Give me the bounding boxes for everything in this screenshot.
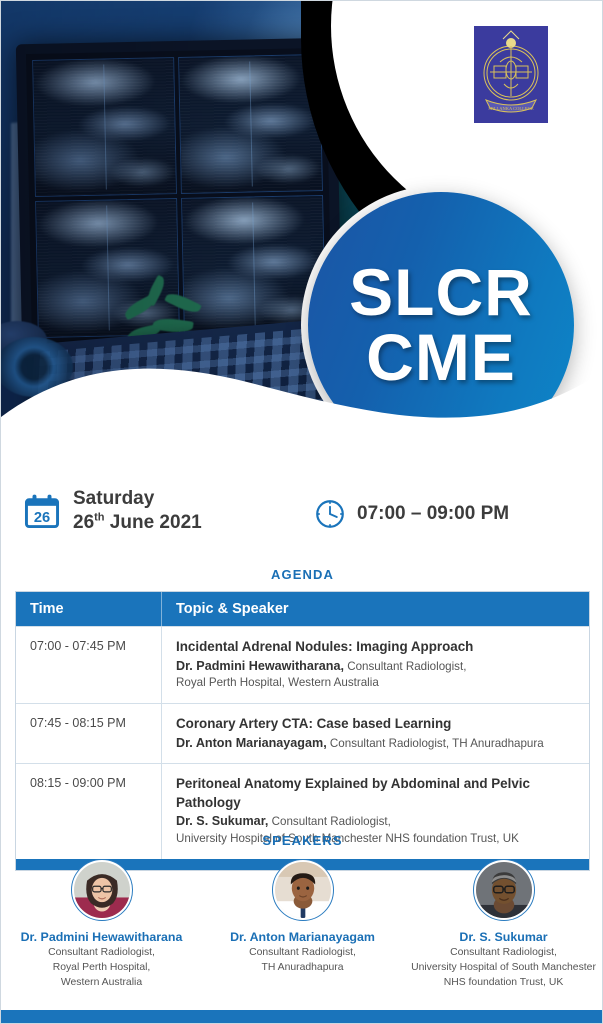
speaker-affiliation: Consultant Radiologist, Royal Perth Hosp… bbox=[48, 946, 155, 990]
speakers-section-label: SPEAKERS bbox=[1, 833, 603, 848]
column-header-time: Time bbox=[16, 592, 162, 626]
speaker-card: Dr. Padmini Hewawitharana Consultant Rad… bbox=[1, 859, 202, 990]
hero-banner: SLCR CME bbox=[1, 1, 603, 471]
event-meta-row: 26 Saturday 26th June 2021 07:00 – 09:00… bbox=[1, 483, 603, 553]
svg-text:SRI LANKA COLLEGE: SRI LANKA COLLEGE bbox=[488, 106, 533, 111]
avatar bbox=[272, 859, 334, 921]
brand-line-slcr: SLCR bbox=[349, 260, 533, 325]
speaker-photo bbox=[74, 862, 130, 918]
college-crest-icon: SRI LANKA COLLEGE bbox=[474, 26, 548, 123]
row-topic: Incidental Adrenal Nodules: Imaging Appr… bbox=[162, 627, 589, 703]
row-topic-affiliation: Royal Perth Hospital, Western Australia bbox=[176, 675, 579, 692]
row-topic-role: Consultant Radiologist, TH Anuradhapura bbox=[327, 737, 544, 750]
event-date-day: 26 bbox=[73, 512, 94, 533]
row-topic-title: Incidental Adrenal Nodules: Imaging Appr… bbox=[176, 638, 579, 657]
row-topic-speaker: Dr. S. Sukumar, Consultant Radiologist, bbox=[176, 812, 579, 831]
agenda-section-label: AGENDA bbox=[1, 567, 603, 582]
agenda-table: Time Topic & Speaker 07:00 - 07:45 PM In… bbox=[15, 591, 590, 871]
row-time: 07:45 - 08:15 PM bbox=[16, 704, 162, 763]
white-wave-divider bbox=[1, 321, 603, 471]
event-date: 26 Saturday 26th June 2021 bbox=[23, 487, 202, 535]
row-topic-role: Consultant Radiologist, bbox=[268, 815, 390, 828]
event-time-text: 07:00 – 09:00 PM bbox=[357, 503, 509, 525]
row-topic-title: Coronary Artery CTA: Case based Learning bbox=[176, 715, 579, 734]
speaker-portrait-icon bbox=[275, 862, 331, 918]
speaker-affiliation: Consultant Radiologist, TH Anuradhapura bbox=[249, 946, 356, 976]
speaker-photo bbox=[476, 862, 532, 918]
event-date-ordinal: th bbox=[94, 512, 104, 524]
row-topic-role: Consultant Radiologist, bbox=[344, 660, 466, 673]
event-date-rest: June 2021 bbox=[105, 512, 202, 533]
clock-icon bbox=[313, 497, 347, 531]
table-row: 07:45 - 08:15 PM Coronary Artery CTA: Ca… bbox=[16, 703, 589, 763]
speaker-affiliation: Consultant Radiologist, University Hospi… bbox=[411, 946, 596, 990]
event-time: 07:00 – 09:00 PM bbox=[313, 497, 509, 531]
table-row: 07:00 - 07:45 PM Incidental Adrenal Nodu… bbox=[16, 626, 589, 703]
speaker-card: Dr. Anton Marianayagam Consultant Radiol… bbox=[202, 859, 403, 990]
row-topic-title: Peritoneal Anatomy Explained by Abdomina… bbox=[176, 775, 579, 812]
column-header-topic: Topic & Speaker bbox=[162, 592, 589, 626]
event-date-text: Saturday 26th June 2021 bbox=[73, 487, 202, 535]
avatar bbox=[473, 859, 535, 921]
row-time: 07:00 - 07:45 PM bbox=[16, 627, 162, 703]
speaker-name: Dr. Anton Marianayagam bbox=[230, 930, 375, 944]
calendar-day-number: 26 bbox=[34, 510, 50, 526]
row-topic-speaker: Dr. Padmini Hewawitharana, Consultant Ra… bbox=[176, 657, 579, 676]
speakers-list: Dr. Padmini Hewawitharana Consultant Rad… bbox=[1, 859, 603, 990]
speaker-name: Dr. Padmini Hewawitharana bbox=[21, 930, 183, 944]
row-topic: Coronary Artery CTA: Case based Learning… bbox=[162, 704, 589, 763]
avatar bbox=[71, 859, 133, 921]
speaker-card: Dr. S. Sukumar Consultant Radiologist, U… bbox=[403, 859, 603, 990]
college-logo: SRI LANKA COLLEGE bbox=[474, 26, 548, 123]
row-topic-speaker: Dr. Anton Marianayagam, Consultant Radio… bbox=[176, 734, 579, 753]
calendar-icon: 26 bbox=[23, 492, 61, 530]
speaker-photo bbox=[275, 862, 331, 918]
event-date-line: 26th June 2021 bbox=[73, 511, 202, 535]
cme-poster: SLCR CME bbox=[0, 0, 603, 1024]
event-day-name: Saturday bbox=[73, 487, 202, 511]
agenda-table-header: Time Topic & Speaker bbox=[16, 592, 589, 626]
speaker-name: Dr. S. Sukumar bbox=[459, 930, 547, 944]
footer-bar bbox=[1, 1010, 603, 1023]
speaker-portrait-icon bbox=[74, 862, 130, 918]
speaker-portrait-icon bbox=[476, 862, 532, 918]
